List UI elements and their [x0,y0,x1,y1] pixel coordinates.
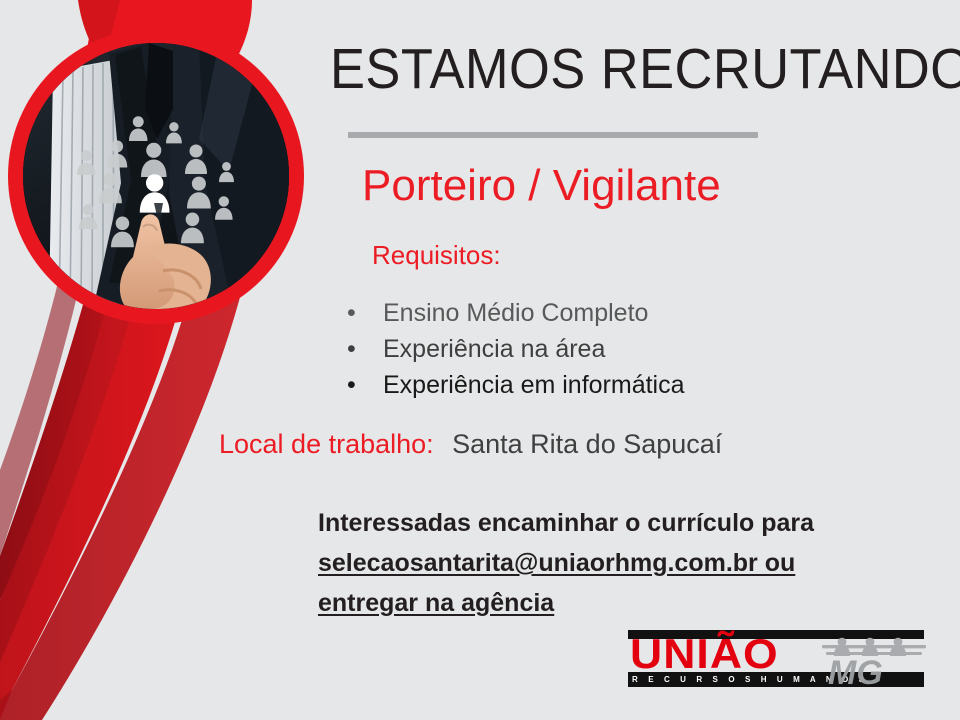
requirements-label: Requisitos: [372,239,501,271]
bullet-icon: • [347,367,356,403]
contact-line-3: entregar na agência [318,583,814,623]
list-item-label: Experiência na área [383,335,605,363]
bullet-icon: • [347,331,356,367]
bullet-icon: • [347,295,356,331]
logo-wordmark: UNIÃO [630,633,779,675]
company-logo: UNIÃO R E C U R S O S H U M A N O S [628,630,928,696]
requirements-list: • Ensino Médio Completo • Experiência na… [341,295,685,403]
list-item-label: Ensino Médio Completo [383,299,648,327]
job-title: Porteiro / Vigilante [362,160,721,212]
contact-email[interactable]: selecaosantarita@uniaorhmg.com.br ou [318,543,814,583]
work-location-value: Santa Rita do Sapucaí [452,429,722,459]
work-location-label: Local de trabalho: [219,429,434,459]
contact-instructions: Interessadas encaminhar o currículo para… [318,503,814,623]
page-title: ESTAMOS RECRUTANDO [330,38,960,100]
contact-line-1: Interessadas encaminhar o currículo para [318,503,814,543]
list-item-label: Experiência em informática [383,371,685,399]
list-item: • Experiência em informática [341,367,685,403]
poster-content: ESTAMOS RECRUTANDO Porteiro / Vigilante … [0,0,960,720]
mg-state-mark-icon: MG [820,632,932,692]
work-location: Local de trabalho: Santa Rita do Sapucaí [219,427,722,461]
title-divider [348,132,758,138]
recruitment-poster: ESTAMOS RECRUTANDO Porteiro / Vigilante … [0,0,960,720]
svg-text:MG: MG [828,654,883,692]
list-item: • Experiência na área [341,331,685,367]
list-item: • Ensino Médio Completo [341,295,685,331]
